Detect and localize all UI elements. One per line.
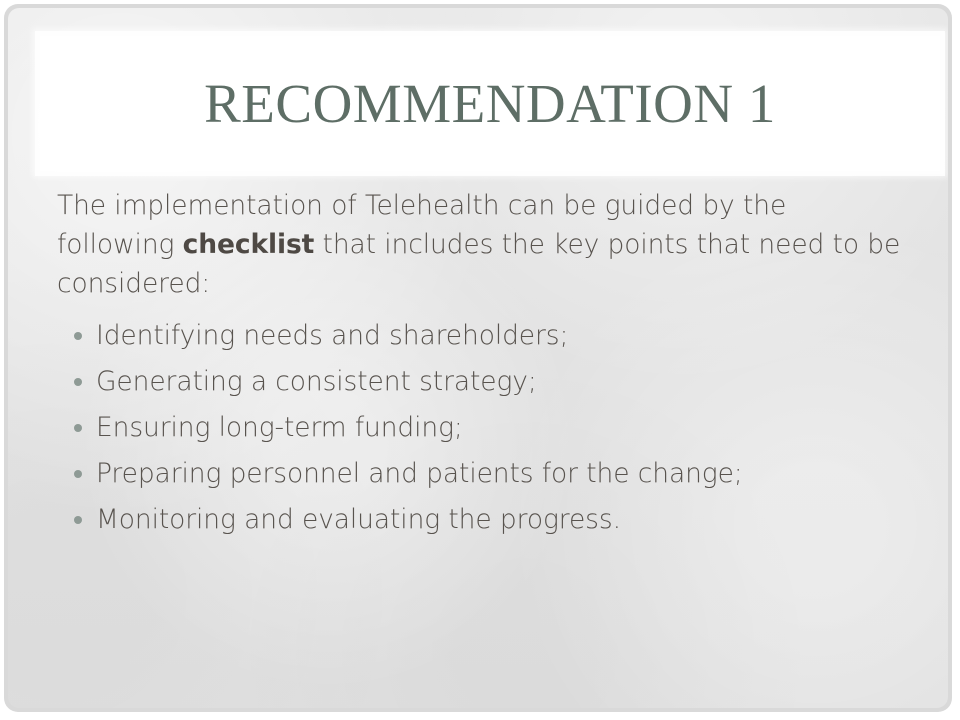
list-item: Preparing personnel and patients for the… (8, 451, 948, 497)
list-item-label: Generating a consistent strategy; (96, 359, 537, 405)
bullet-dot-icon (74, 424, 82, 432)
bullet-dot-icon (74, 516, 82, 524)
list-item: Identifying needs and shareholders; (8, 313, 948, 359)
slide-body: The implementation of Telehealth can be … (8, 186, 948, 543)
bullet-dot-icon (74, 470, 82, 478)
list-item-label: Monitoring and evaluating the progress. (96, 497, 621, 543)
slide-title: Recommendation 1 (40, 36, 940, 171)
bullet-dot-icon (74, 378, 82, 386)
list-item: Ensuring long-term funding; (8, 405, 948, 451)
recommendation-bullet-list: Identifying needs and shareholders; Gene… (8, 313, 948, 543)
list-item-label: Preparing personnel and patients for the… (96, 451, 743, 497)
list-item-label: Ensuring long-term funding; (96, 405, 463, 451)
intro-paragraph: The implementation of Telehealth can be … (8, 186, 948, 303)
list-item: Generating a consistent strategy; (8, 359, 948, 405)
list-item-label: Identifying needs and shareholders; (96, 313, 568, 359)
list-item: Monitoring and evaluating the progress. (8, 497, 948, 543)
intro-emphasis-checklist: checklist (183, 229, 315, 260)
slide-surface: Recommendation 1 The implementation of T… (8, 8, 948, 708)
bullet-dot-icon (74, 332, 82, 340)
slide-viewport: Recommendation 1 The implementation of T… (0, 0, 960, 720)
